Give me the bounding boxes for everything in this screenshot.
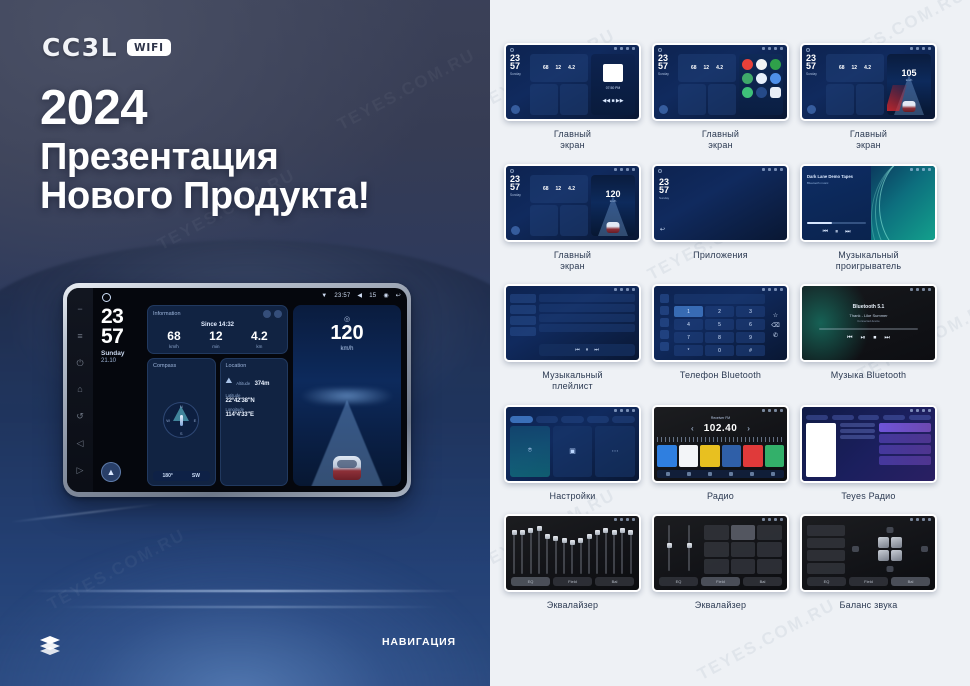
altitude-label: Altitude [236, 381, 250, 386]
home-icon[interactable]: ⌂ [75, 384, 86, 395]
mountain-icon: ⛰ [226, 376, 233, 386]
eq-slider [621, 528, 623, 574]
speaker-quad [878, 537, 902, 561]
list-item [539, 314, 635, 322]
eq-sliders[interactable] [659, 525, 699, 574]
mini-player[interactable]: ⏮⏸⏭ [539, 344, 635, 356]
pause-icon[interactable]: ⏸ [835, 229, 838, 236]
lower-widgets: Compass N S W E [147, 358, 288, 486]
preset-item [757, 559, 782, 574]
screen-thumbnail-sound-balance[interactable]: EQFieldBal [800, 514, 937, 592]
status-bar [762, 47, 783, 50]
thumbnail-caption: Приложения [693, 250, 748, 261]
balance-up-button[interactable] [887, 527, 894, 533]
eq-slider [546, 534, 548, 574]
preset-item [704, 559, 729, 574]
hero-panel: TEYES.COM.RU TEYES.COM.RU TEYES.COM.RU C… [0, 0, 490, 686]
next-icon: ⏭ [594, 347, 599, 353]
tab-display [561, 416, 584, 423]
tab-wifi [510, 416, 533, 423]
thumbnail-caption: Эквалайзер [547, 600, 598, 611]
speed-value: 120 [293, 323, 401, 343]
assistant-icon [511, 105, 520, 114]
information-card[interactable]: Information Since 14:32 68 [147, 305, 288, 354]
screens-gallery-panel: TEYES.COM.RU TEYES.COM.RU TEYES.COM.RU T… [490, 0, 970, 686]
status-bar [910, 409, 931, 412]
status-time: 23:57 [334, 293, 350, 299]
screen-thumbnail-settings[interactable]: ⌾▣⋯ [504, 405, 641, 483]
status-volume: 15 [369, 293, 376, 299]
power-icon [771, 472, 775, 476]
station-info [840, 423, 875, 477]
tab-sound [536, 416, 559, 423]
progress-bar[interactable] [807, 222, 866, 224]
contacts-icon [660, 306, 669, 315]
grid-cell[interactable]: EQFieldBal Эквалайзер [652, 514, 789, 611]
clock-column: 23 57 Sunday 21.10 ▲ [99, 305, 142, 486]
head-unit-device: − ≡ ⏻ ⌂ ↺ ◁ ▷ ▼ 23:57 ◀ 15 ◉ [63, 283, 411, 497]
thumbnail-caption: Телефон Bluetooth [680, 370, 761, 381]
compass-card [530, 84, 558, 115]
clock-hours: 23 [101, 307, 142, 327]
eq-slider [688, 525, 690, 571]
status-bar [614, 47, 635, 50]
app-icon [756, 73, 767, 84]
navigation-speed-widget[interactable]: ◎ 120 km/h [293, 305, 401, 486]
bt-device-name: Bluetooth 5.1 [819, 304, 917, 310]
search-icon [687, 472, 691, 476]
stat-item: 68 km/h [167, 330, 180, 349]
page-title: 2024 Презентация Нового Продукта! [40, 84, 370, 215]
compass-card[interactable]: Compass N S W E [147, 358, 216, 486]
preset-stations[interactable] [657, 445, 784, 467]
preset-item [765, 445, 785, 467]
screen-thumbnail-music-player[interactable]: Dark Lane Demo Tapes Bluetooth music ⏮ ⏸… [800, 164, 937, 242]
clock-widget: 2357Sunday [659, 178, 676, 200]
hood-highlight [60, 606, 440, 608]
preset-item [757, 542, 782, 557]
radio-toolbar[interactable] [657, 470, 784, 478]
back-icon[interactable]: ↩ [660, 226, 665, 233]
footer-label: НАВИГАЦИЯ [382, 636, 456, 648]
speaker-fl [878, 537, 889, 548]
status-bar [762, 168, 783, 171]
preset-item [722, 445, 742, 467]
information-title: Information [153, 311, 181, 317]
compass-rose: N S W E [163, 402, 199, 438]
tuning-scale[interactable] [657, 437, 784, 442]
preset-grid[interactable] [704, 525, 782, 574]
album-art [806, 423, 836, 477]
eq-tabs[interactable]: EQFieldBal [659, 577, 782, 586]
tab-field: Field [553, 577, 592, 586]
home-icon [510, 48, 514, 52]
grid-cell[interactable]: Dark Lane Demo Tapes Bluetooth music ⏮ ⏸… [800, 164, 937, 273]
status-bar [614, 409, 635, 412]
pause-icon: ⏸ [586, 347, 589, 353]
thumbnail-caption: Радио [707, 491, 734, 502]
tab-field: Field [701, 577, 740, 586]
trip-stats: 68 km/h 12 min 4.2 km [153, 330, 282, 349]
tab-eq: EQ [659, 577, 698, 586]
grid-cell[interactable]: Teyes Радио [800, 405, 937, 502]
preset-item [731, 559, 756, 574]
location-card [560, 84, 588, 115]
settings-icon [750, 472, 754, 476]
screen-thumbnail-equalizer-bands[interactable]: EQFieldBal [504, 514, 641, 592]
search-icon [660, 318, 669, 327]
plus-icon[interactable]: ≡ [75, 331, 86, 342]
phone-actions[interactable]: ☆⌫✆ [768, 294, 783, 356]
location-card [560, 205, 588, 236]
latitude-value: 22°42'38"N [226, 398, 283, 404]
preset-item [657, 445, 677, 467]
information-card: 68124.2 [678, 54, 736, 82]
carplay-icon: ▣ [553, 426, 593, 477]
status-bar [910, 288, 931, 291]
latitude-row: Latitude 22°42'38"N [226, 393, 283, 404]
home-icon [658, 48, 662, 52]
compass-bearing: 180° [163, 473, 173, 479]
grid-cell[interactable]: 2357Sunday 68124.2 105km/h [800, 43, 937, 152]
previous-icon[interactable]: ⏮ [823, 229, 828, 236]
grid-cell[interactable]: ⏮⏸⏭ Музыкальныйплейлист [504, 284, 641, 393]
grid-cell[interactable]: Receiver FM ‹ 102.40 › [652, 405, 789, 502]
preset-item [731, 542, 756, 557]
information-actions[interactable] [263, 310, 282, 318]
call-icon: ✆ [773, 332, 778, 339]
status-bar [910, 168, 931, 171]
compass-card [530, 205, 558, 236]
location-card[interactable]: Location ⛰ Altitude 374m [220, 358, 289, 486]
trip-since: Since 14:32 [153, 322, 282, 328]
speed-value: 105km/h [887, 68, 931, 82]
keypad-icon [660, 294, 669, 303]
compass-dial: N S W E [153, 369, 210, 471]
track-title: Dark Lane Demo Tapes [807, 174, 866, 179]
eq-tabs[interactable]: EQFieldBal [511, 577, 634, 586]
balance-presets[interactable] [807, 525, 845, 574]
preset-item [704, 542, 729, 557]
eq-slider [605, 528, 607, 574]
power-icon[interactable]: ⏻ [75, 358, 86, 369]
grid-cell[interactable]: 123456789*0# ☆⌫✆ Телефон Bluetooth [652, 284, 789, 393]
volume-down-icon[interactable]: ◁ [75, 438, 86, 449]
grid-cell[interactable]: 2357Sunday 68124.2 120km/h Главныйэкран [504, 164, 641, 273]
grid-row: 2357Sunday 68124.2 120km/h Главныйэкран [504, 164, 956, 273]
thumbnail-caption: Главныйэкран [850, 129, 887, 152]
eq-slider [555, 536, 557, 574]
thumbnail-caption: Музыка Bluetooth [831, 370, 907, 381]
eq-slider [571, 540, 573, 574]
previous-icon: ⏮ [575, 347, 580, 353]
eq-slider [630, 530, 632, 574]
app-icon [770, 59, 781, 70]
eq-slider [596, 530, 598, 574]
location-card [708, 84, 736, 115]
teyes-tabs[interactable] [806, 415, 931, 420]
app-icon [756, 87, 767, 98]
status-bar [910, 518, 931, 521]
grid-row: ⏮⏸⏭ Музыкальныйплейлист [504, 284, 956, 393]
screen-thumbnail-teyes-radio[interactable] [800, 405, 937, 483]
thumbnail-caption: Teyes Радио [841, 491, 895, 502]
balance-left-button[interactable] [852, 546, 859, 552]
settings-icon [660, 342, 669, 351]
screens-grid: 2357Sunday 68124.2 07:50 PM ◀◀ ■ ▶▶ Глав… [490, 0, 970, 611]
status-bar [762, 518, 783, 521]
eq-slider [530, 528, 532, 574]
eq-slider [538, 526, 540, 574]
compass-readout: 180° SW [153, 471, 210, 481]
altitude-row: ⛰ Altitude 374m [226, 372, 283, 390]
grid-cell[interactable]: Bluetooth 5.1 Thank - Like Summer Connec… [800, 284, 937, 393]
player-controls[interactable]: ⏮ ⏸ ⏭ [807, 229, 866, 236]
status-bar [762, 409, 783, 412]
car-graphic [333, 456, 361, 480]
screen-thumbnail-home-nav[interactable]: 2357Sunday 68124.2 120km/h [504, 164, 641, 242]
next-icon: ⏭ [884, 335, 889, 342]
minus-icon[interactable]: − [75, 304, 86, 315]
balance-pad[interactable] [850, 525, 930, 574]
stat-unit: min [209, 344, 222, 349]
assistant-icon [511, 226, 520, 235]
altitude-value: 374m [255, 381, 270, 387]
list-item [539, 324, 635, 332]
clock-widget: 23 57 Sunday 21.10 [101, 307, 142, 364]
frequency-row: ‹ 102.40 › [657, 423, 784, 434]
status-bar [614, 168, 635, 171]
clock-date: 21.10 [101, 358, 142, 364]
compass-e: E [194, 418, 197, 423]
list-item [539, 294, 635, 302]
speaker-fr [891, 537, 902, 548]
app-icon [742, 73, 753, 84]
preset-item [704, 525, 729, 540]
volume-up-icon[interactable]: ▷ [75, 465, 86, 476]
preset-item [700, 445, 720, 467]
balance-down-button[interactable] [887, 566, 894, 572]
grid-row: 2357Sunday 68124.2 07:50 PM ◀◀ ■ ▶▶ Глав… [504, 43, 956, 152]
balance-right-button[interactable] [921, 546, 928, 552]
volume-icon: ◀ [357, 292, 362, 299]
information-card: 68124.2 [826, 54, 884, 82]
assistant-icon [659, 105, 668, 114]
navigation-speed-widget: 120km/h [591, 175, 635, 236]
location-card [856, 84, 884, 115]
grid-cell[interactable]: EQFieldBal Баланс звука [800, 514, 937, 611]
clock-minutes: 57 [101, 327, 142, 347]
longitude-row: Longitude 114°4'33"E [226, 407, 283, 418]
music-widget: 07:50 PM ◀◀ ■ ▶▶ [591, 54, 635, 115]
wifi-badge: WIFI [127, 39, 171, 56]
player-info: Dark Lane Demo Tapes Bluetooth music ⏮ ⏸… [802, 166, 871, 240]
thumbnail-caption: Музыкальныйплейлист [542, 370, 602, 393]
compass-needle [180, 415, 183, 426]
app-grid-icon [770, 87, 781, 98]
information-card: 68124.2 [530, 175, 588, 203]
grid-row: EQFieldBal Эквалайзер [504, 514, 956, 611]
title-year: 2024 [40, 84, 370, 134]
screen-thumbnail-apps[interactable]: 2357Sunday [652, 164, 789, 242]
wifi-icon: ▼ [321, 293, 327, 299]
playlist-sidebar[interactable] [510, 294, 536, 356]
assistant-icon [807, 105, 816, 114]
status-bar [614, 288, 635, 291]
screenshot-icon[interactable]: ◉ [383, 292, 388, 299]
previous-icon: ⏮ [847, 335, 852, 342]
screen-thumbnail-home-music[interactable]: 2357Sunday 68124.2 07:50 PM ◀◀ ■ ▶▶ [504, 43, 641, 121]
prev-station-icon[interactable]: ‹ [691, 424, 694, 433]
home-icon[interactable] [102, 293, 111, 302]
grid-cell[interactable]: EQFieldBal Эквалайзер [504, 514, 641, 611]
home-icon [658, 169, 662, 173]
preset-item [731, 525, 756, 540]
tab-balance: Bal [743, 577, 782, 586]
tab-field: Field [849, 577, 888, 586]
app-drawer[interactable] [692, 175, 783, 236]
preset-item [757, 525, 782, 540]
preset-item [679, 445, 699, 467]
tab-balance: Bal [595, 577, 634, 586]
bt-track-title: Thank - Like Summer [819, 313, 917, 318]
screen-thumbnail-bt-phone[interactable]: 123456789*0# ☆⌫✆ [652, 284, 789, 362]
eq-tabs[interactable]: EQFieldBal [807, 577, 930, 586]
grid-cell[interactable]: ⌾▣⋯ Настройки [504, 405, 641, 502]
tab-balance: Bal [891, 577, 930, 586]
grid-cell[interactable]: 2357Sunday [652, 164, 789, 273]
car-graphic [903, 101, 916, 112]
thumbnail-caption: Музыкальныйпроигрыватель [836, 250, 901, 273]
settings-icon[interactable] [263, 310, 271, 318]
tab-system [587, 416, 610, 423]
list-icon [708, 472, 712, 476]
screen-thumbnail-radio[interactable]: Receiver FM ‹ 102.40 › [652, 405, 789, 483]
widgets-column: Information Since 14:32 68 [147, 305, 288, 486]
adas-widget: 105km/h [887, 54, 931, 115]
product-logo: CC3L WIFI [42, 33, 171, 62]
screen-thumbnail-bt-music[interactable]: Bluetooth 5.1 Thank - Like Summer Connec… [800, 284, 937, 362]
track-artist: Bluetooth music [807, 181, 866, 185]
compass-n: N [180, 404, 183, 409]
list-item [539, 304, 635, 312]
grid-cell[interactable]: 2357Sunday 68124.2 [652, 43, 789, 152]
station-list[interactable] [879, 423, 931, 477]
information-header: Information [153, 310, 282, 318]
eq-slider [668, 525, 670, 571]
stat-value: 68 [167, 330, 180, 342]
grid-cell[interactable]: 2357Sunday 68124.2 07:50 PM ◀◀ ■ ▶▶ Глав… [504, 43, 641, 152]
compass-card [678, 84, 706, 115]
eq-slider [613, 530, 615, 574]
app-shortcuts-panel [739, 54, 783, 115]
compass-s: S [180, 431, 183, 436]
head-unit-bezel: − ≡ ⏻ ⌂ ↺ ◁ ▷ ▼ 23:57 ◀ 15 ◉ [67, 288, 407, 492]
call-log-icon [660, 330, 669, 339]
app-icon [742, 87, 753, 98]
status-bar [614, 518, 635, 521]
more-icon: ⋯ [595, 426, 635, 477]
favorite-icon: ☆ [773, 312, 778, 319]
compass-direction: SW [192, 473, 200, 479]
dial-pad[interactable]: 123456789*0# [674, 294, 765, 356]
speaker-rr [891, 550, 902, 561]
status-bar [762, 288, 783, 291]
next-icon[interactable]: ⏭ [845, 229, 850, 236]
screen-thumbnail-playlist[interactable]: ⏮⏸⏭ [504, 284, 641, 362]
refresh-icon[interactable] [274, 310, 282, 318]
longitude-value: 114°4'33"E [226, 412, 283, 418]
frequency-value: 102.40 [704, 423, 738, 434]
home-icon [510, 169, 514, 173]
settings-cards[interactable]: ⌾▣⋯ [510, 426, 635, 477]
progress-bar[interactable] [819, 328, 917, 330]
settings-tabs[interactable] [510, 416, 635, 423]
eq-slider [563, 538, 565, 574]
logo-text: CC3L [42, 33, 118, 62]
app-icon [770, 73, 781, 84]
assistant-icon[interactable]: ▲ [101, 462, 121, 482]
home-icon [806, 48, 810, 52]
grid-row: ⌾▣⋯ Настройки Receiver FM ‹ 102.40 [504, 405, 956, 502]
stat-value: 12 [209, 330, 222, 342]
player-controls[interactable]: ⏮⏯ ⏹⏭ [819, 335, 917, 342]
car-graphic [607, 222, 620, 233]
stat-item: 12 min [209, 330, 222, 349]
hood-highlight [30, 590, 460, 592]
track-list[interactable]: ⏮⏸⏭ [539, 294, 635, 356]
play-pause-icon: ⏯ [861, 335, 866, 342]
visualizer [871, 166, 935, 240]
speed-unit: km/h [293, 346, 401, 352]
information-card: 68124.2 [530, 54, 588, 82]
thumbnail-caption: Настройки [550, 491, 596, 502]
back-icon[interactable]: ↩ [396, 292, 401, 299]
screen-thumbnail-home-apps[interactable]: 2357Sunday 68124.2 [652, 43, 789, 121]
head-unit-screen[interactable]: ▼ 23:57 ◀ 15 ◉ ↩ 23 57 Sunday [93, 288, 407, 492]
speed-value: 120km/h [591, 189, 635, 203]
compass-w: W [166, 418, 170, 423]
eq-band-sliders[interactable] [511, 525, 634, 577]
location-title: Location [226, 363, 283, 369]
bt-track-artist: Connected device [819, 319, 917, 323]
title-line-2: Нового Продукта! [40, 177, 370, 216]
title-line-1: Презентация [40, 138, 370, 177]
stat-value: 4.2 [251, 330, 268, 342]
eq-slider [580, 538, 582, 574]
thumbnail-caption: Главныйэкран [554, 250, 591, 273]
stat-item: 4.2 km [251, 330, 268, 349]
stat-unit: km/h [167, 344, 180, 349]
hardware-button-rail[interactable]: − ≡ ⏻ ⌂ ↺ ◁ ▷ [67, 288, 93, 492]
radio-band: Receiver FM [657, 416, 784, 420]
phone-sidebar[interactable] [658, 294, 671, 356]
app-icon [742, 59, 753, 70]
screen-thumbnail-equalizer-presets[interactable]: EQFieldBal [652, 514, 789, 592]
thumbnail-caption: Баланс звука [840, 600, 898, 611]
eq-icon [729, 472, 733, 476]
tab-eq: EQ [807, 577, 846, 586]
back-icon[interactable]: ↺ [75, 411, 86, 422]
presentation-slide: TEYES.COM.RU TEYES.COM.RU TEYES.COM.RU C… [0, 0, 970, 686]
clock-day: Sunday [101, 350, 142, 357]
eq-slider [588, 534, 590, 574]
backspace-icon: ⌫ [771, 322, 779, 329]
next-station-icon[interactable]: › [747, 424, 750, 433]
thumbnail-caption: Главныйэкран [554, 129, 591, 152]
screen-thumbnail-home-adas[interactable]: 2357Sunday 68124.2 105km/h [800, 43, 937, 121]
preset-item [743, 445, 763, 467]
